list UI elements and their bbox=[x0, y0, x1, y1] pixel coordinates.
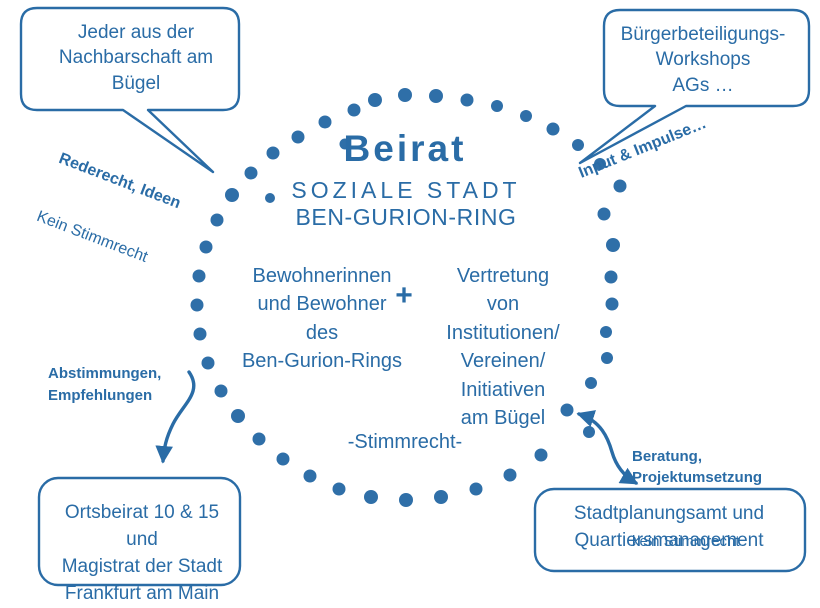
page-title: Beirat bbox=[255, 126, 555, 171]
box-bottom-left-text: Ortsbeirat 10 & 15 und Magistrat der Sta… bbox=[42, 500, 242, 608]
bubble-top-right-text: Bürgerbeteiligungs- Workshops AGs … bbox=[604, 22, 802, 98]
arrow-to-ortsbeirat bbox=[163, 372, 194, 461]
connector-label-bottom-right-bold: Beratung, Projektumsetzung bbox=[632, 446, 762, 489]
connector-label-top-left-bold: Rederecht, Ideen bbox=[56, 149, 184, 215]
group-institutions: Vertretung von Institutionen/ Vereinen/ … bbox=[413, 262, 593, 432]
connector-label-bottom-right: Beratung, Projektumsetzung kein Stimmrec… bbox=[632, 403, 762, 595]
connector-label-bottom-left: Abstimmungen, Empfehlungen bbox=[48, 363, 161, 407]
subtitle-ben-gurion-ring: BEN-GURION-RING bbox=[246, 203, 566, 231]
connector-label-bottom-right-regular: kein Stimmrecht bbox=[632, 531, 762, 552]
bubble-top-left-text: Jeder aus der Nachbarschaft am Bügel bbox=[36, 20, 236, 96]
diagram-canvas: Jeder aus der Nachbarschaft am Bügel Bür… bbox=[0, 0, 820, 600]
voting-rights-note: -Stimmrecht- bbox=[285, 430, 525, 454]
subtitle-soziale-stadt: SOZIALE STADT bbox=[246, 176, 566, 204]
connector-label-top-left-regular: Kein Stimmrecht bbox=[33, 207, 161, 273]
